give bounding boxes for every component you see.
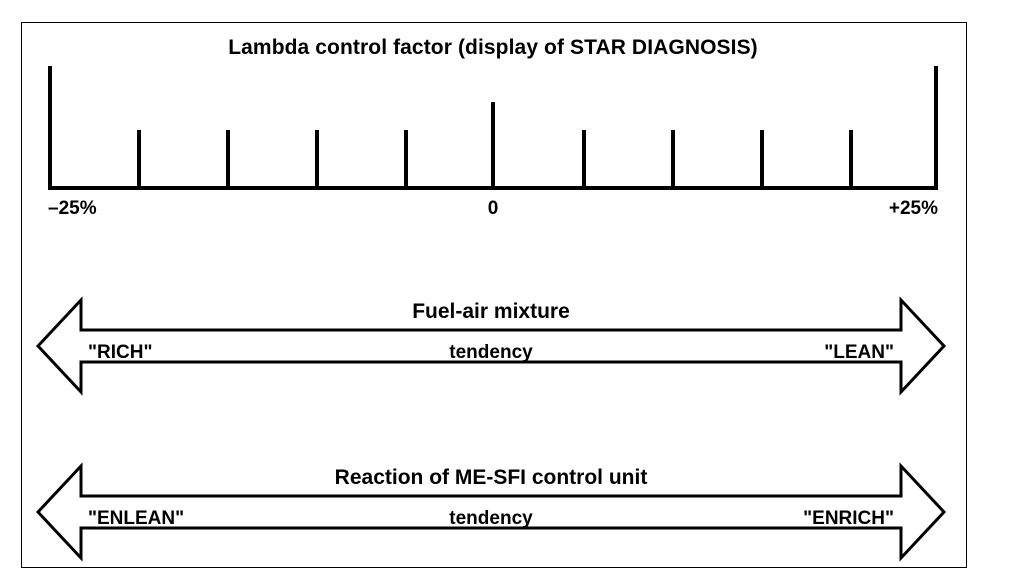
scale-title: Lambda control factor (display of STAR D… [48,36,938,60]
scale-tick-minus-20 [137,130,141,190]
scale-tick-plus-10 [671,130,675,190]
scale-tick-plus-25 [934,66,938,190]
scale-tick-plus-5 [582,130,586,190]
fuel-air-mixture-band: Fuel-air mixture "RICH" tendency "LEAN" [35,292,947,400]
fuel-air-mixture-center-label: tendency [449,342,532,364]
fuel-air-mixture-heading: Fuel-air mixture [35,300,947,324]
diagram-page: Lambda control factor (display of STAR D… [0,0,1024,586]
scale-tick-plus-20 [849,130,853,190]
scale-tick-minus-10 [315,130,319,190]
scale-label-max: +25% [889,198,938,220]
scale-tick-minus-15 [226,130,230,190]
scale-tick-plus-15 [760,130,764,190]
scale-tick-minus-25 [48,66,52,190]
me-sfi-reaction-labels: "ENLEAN" tendency "ENRICH" [35,508,947,534]
me-sfi-reaction-center-label: tendency [449,508,532,530]
fuel-air-mixture-labels: "RICH" tendency "LEAN" [35,342,947,368]
scale-label-min: –25% [48,198,97,220]
me-sfi-reaction-left-label: "ENLEAN" [88,508,184,530]
me-sfi-reaction-band: Reaction of ME-SFI control unit "ENLEAN"… [35,458,947,566]
me-sfi-reaction-heading: Reaction of ME-SFI control unit [35,466,947,490]
scale-axis-labels: –25% 0 +25% [48,198,938,222]
fuel-air-mixture-right-label: "LEAN" [824,342,894,364]
lambda-scale [48,66,938,190]
scale-tick-zero [491,102,495,190]
scale-tick-minus-5 [404,130,408,190]
me-sfi-reaction-right-label: "ENRICH" [803,508,894,530]
fuel-air-mixture-left-label: "RICH" [88,342,152,364]
scale-label-mid: 0 [488,198,499,220]
